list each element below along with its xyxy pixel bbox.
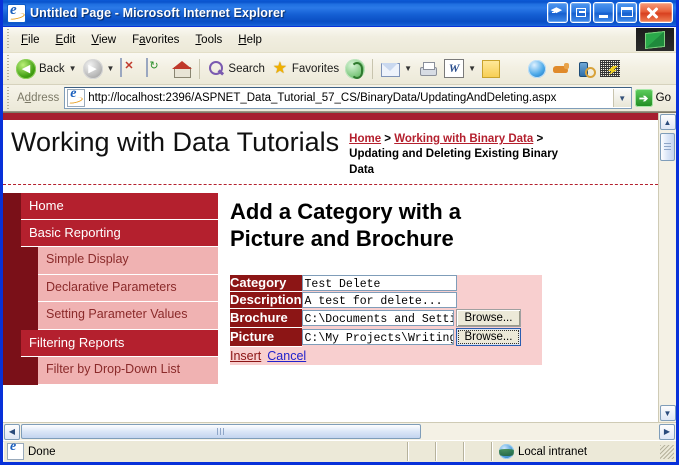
sidebar-item-basic-reporting[interactable]: Basic Reporting [3,220,218,247]
nav-stripe [3,302,38,330]
page-done-icon [7,443,24,460]
breadcrumb: Home > Working with Binary Data > Updati… [349,123,564,178]
messenger-button[interactable] [525,56,549,82]
address-gripper[interactable] [4,87,12,109]
picture-browse-button[interactable]: Browse... [456,328,522,346]
breadcrumb-sep-2: > [533,133,543,145]
field-label-category: Category [230,275,302,292]
field-cell-brochure: C:\Documents and Settings Browse... [302,308,542,327]
cancel-link[interactable]: Cancel [267,349,306,363]
site-title: Working with Data Tutorials [11,123,339,162]
resize-grip[interactable] [660,445,674,459]
sidebar-item-label: Basic Reporting [21,220,218,247]
horizontal-scrollbar[interactable]: ◀ ▶ [3,422,676,440]
edit-dropdown-icon[interactable]: ▼ [468,64,476,73]
menu-item-tools[interactable]: Tools [187,31,230,49]
search-icon [207,60,225,78]
scroll-up-button[interactable]: ▲ [660,114,676,130]
main-toolbar: ◀ Back ▼ ▶ ▼ ✕ ↻ Search ★ Favorites [3,53,676,85]
sidebar-item-filtering-reports[interactable]: Filtering Reports [3,330,218,357]
breadcrumb-link-section[interactable]: Working with Binary Data [394,133,533,145]
table-row: Description A test for delete... [230,291,542,308]
scroll-right-button[interactable]: ▶ [659,424,675,440]
star-icon: ★ [271,60,289,78]
sidebar-item-label: Filter by Drop-Down List [38,357,218,385]
field-cell-category: Test Delete [302,275,457,292]
window-title: Untitled Page - Microsoft Internet Explo… [30,6,285,20]
note-icon [482,60,500,78]
security-zone-pane[interactable]: Local intranet [492,442,676,461]
nav-stripe [3,330,21,357]
forward-dropdown-icon[interactable]: ▼ [107,64,115,73]
back-arrow-icon: ◀ [16,59,36,79]
title-bar[interactable]: Untitled Page - Microsoft Internet Explo… [3,0,676,27]
table-row: Brochure C:\Documents and Settings Brows… [230,308,542,327]
addon-icon [600,60,620,77]
main-content: Add a Category with a Picture and Brochu… [218,185,658,385]
nav-stripe [3,220,21,247]
menu-item-file[interactable]: File [13,31,48,49]
address-url-text: http://localhost:2396/ASPNET_Data_Tutori… [88,92,612,104]
home-button[interactable] [169,56,195,82]
page-top-accent-bar [3,113,658,121]
sidebar-item-label: Declarative Parameters [38,275,218,303]
ie-document-icon [7,4,26,23]
toolbar-separator-2 [372,59,373,79]
sidebar-item-label: Filtering Reports [21,330,218,357]
field-label-picture: Picture [230,327,302,346]
insert-link[interactable]: Insert [230,349,261,363]
category-input[interactable]: Test Delete [302,275,457,291]
refresh-icon: ↻ [146,59,166,79]
toolbar-gripper[interactable] [4,55,12,82]
favorites-button[interactable]: ★ Favorites [268,56,342,82]
page-icon [67,89,85,107]
messenger-orb-icon [528,60,546,78]
history-icon [345,59,365,79]
breadcrumb-link-home[interactable]: Home [349,133,381,145]
back-label: Back [39,63,65,75]
back-button[interactable]: ◀ Back ▼ [13,56,80,82]
forward-arrow-icon: ▶ [83,59,103,79]
sidebar-item-label: Home [21,193,218,220]
word-icon: W [444,59,464,78]
brochure-file-input[interactable]: C:\Documents and Settings [302,310,454,326]
address-bar: Address http://localhost:2396/ASPNET_Dat… [3,85,676,112]
field-cell-description: A test for delete... [302,291,457,308]
menu-item-edit[interactable]: Edit [48,31,84,49]
field-label-description: Description [230,291,302,308]
home-icon [172,60,192,78]
menu-bar: File Edit View Favorites Tools Help [3,27,676,53]
browser-window: Untitled Page - Microsoft Internet Explo… [0,0,679,465]
status-pane-3 [464,442,492,461]
addon-button[interactable] [597,56,623,82]
research-button[interactable] [573,56,597,82]
page-header: Working with Data Tutorials Home > Worki… [3,121,658,185]
maximize-button[interactable] [616,2,637,23]
address-input[interactable]: http://localhost:2396/ASPNET_Data_Tutori… [64,87,631,109]
breadcrumb-current: Updating and Deleting Existing Binary Da… [349,148,558,175]
description-input[interactable]: A test for delete... [302,292,457,308]
research-icon [576,60,594,77]
toolbar-separator [199,59,200,79]
menu-item-view[interactable]: View [83,31,124,49]
status-message-pane: Done [3,442,408,461]
sidebar-item-setting-parameter-values[interactable]: Setting Parameter Values [3,302,218,330]
sidebar-item-home[interactable]: Home [3,193,218,220]
sidebar-item-filter-by-drop-down-list[interactable]: Filter by Drop-Down List [3,357,218,385]
toolbar-spacer [507,59,521,79]
status-pane-1 [408,442,436,461]
fox-button[interactable] [549,56,573,82]
search-button[interactable]: Search [204,56,267,82]
sidebar-item-label: Simple Display [38,247,218,275]
scroll-down-button[interactable]: ▼ [660,405,676,421]
forward-button[interactable]: ▶ ▼ [80,56,118,82]
table-row: Picture C:\My Projects\Writings Browse..… [230,327,542,346]
horizontal-scrollbar-thumb[interactable] [21,424,421,439]
stop-button[interactable]: ✕ [117,56,143,82]
vertical-scrollbar-thumb[interactable] [660,133,675,161]
status-bar: Done Local intranet [3,440,676,462]
close-button[interactable] [639,2,673,23]
stop-icon: ✕ [120,59,140,79]
window-controls [547,2,673,23]
nav-stripe [3,193,21,220]
go-label: Go [656,92,671,104]
restore-window-button[interactable] [570,2,591,23]
address-label: Address [13,92,64,104]
fox-icon [552,61,570,77]
scroll-left-button[interactable]: ◀ [4,424,20,440]
nav-stripe [3,247,38,275]
history-button[interactable] [342,56,368,82]
menu-item-help[interactable]: Help [230,31,270,49]
status-text: Done [28,446,56,458]
menu-gripper[interactable] [4,29,12,50]
nav-stripe [3,275,38,303]
back-dropdown-icon[interactable]: ▼ [69,64,77,73]
edit-with-word-button[interactable]: W ▼ [441,56,479,82]
page-viewport: Working with Data Tutorials Home > Worki… [3,112,676,440]
globe-icon [499,444,514,459]
table-row: Category Test Delete [230,275,542,292]
notes-button[interactable] [479,56,503,82]
breadcrumb-sep-1: > [381,133,394,145]
field-cell-picture: C:\My Projects\Writings Browse... [302,327,542,346]
sidebar-nav: Home Basic Reporting Simple Display [3,185,218,385]
print-button[interactable] [415,56,441,82]
table-row: InsertCancel [230,346,542,365]
status-pane-2 [436,442,464,461]
form-actions: InsertCancel [230,346,542,365]
restore-group-horizontal-button[interactable] [547,2,568,23]
windows-flag-logo [636,28,674,51]
menu-item-favorites[interactable]: Favorites [124,31,187,49]
mail-icon [380,61,400,77]
mail-button[interactable]: ▼ [377,56,415,82]
mail-dropdown-icon[interactable]: ▼ [404,64,412,73]
row-spacer [457,291,542,308]
refresh-button[interactable]: ↻ [143,56,169,82]
brochure-browse-button[interactable]: Browse... [456,309,522,327]
picture-file-input[interactable]: C:\My Projects\Writings [302,329,454,345]
printer-icon [418,61,438,77]
security-zone-text: Local intranet [518,446,587,458]
go-arrow-icon: ➔ [635,89,653,107]
sidebar-item-declarative-parameters[interactable]: Declarative Parameters [3,275,218,303]
row-spacer [457,275,542,292]
sidebar-item-simple-display[interactable]: Simple Display [3,247,218,275]
minimize-button[interactable] [593,2,614,23]
address-dropdown-icon[interactable]: ▼ [613,89,631,107]
nav-stripe [3,357,38,385]
vertical-scrollbar[interactable]: ▲ ▼ [658,113,676,422]
favorites-label: Favorites [292,63,339,75]
insert-category-form: Category Test Delete Description A test … [230,275,542,365]
page-title: Add a Category with a Picture and Brochu… [230,199,540,253]
field-label-brochure: Brochure [230,308,302,327]
web-page: Working with Data Tutorials Home > Worki… [3,113,658,422]
sidebar-item-label: Setting Parameter Values [38,302,218,330]
search-label: Search [228,63,264,75]
go-button[interactable]: ➔ Go [632,89,676,107]
